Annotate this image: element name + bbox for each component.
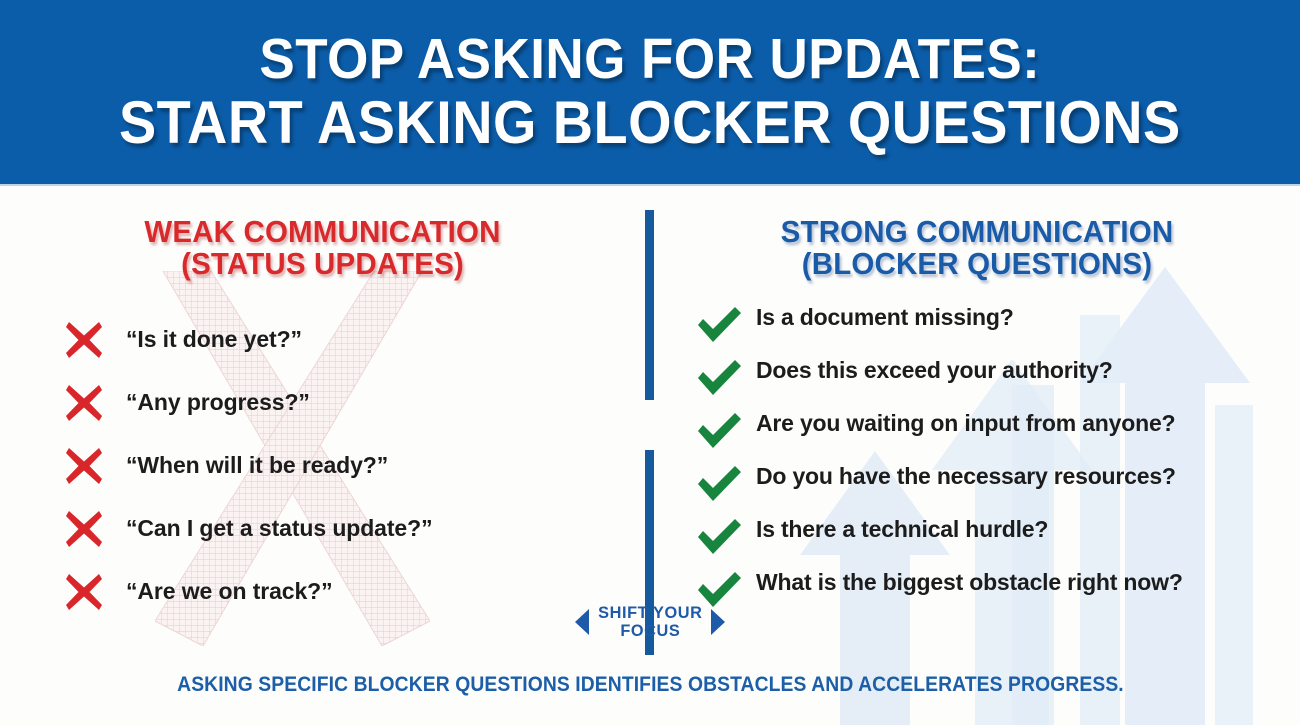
list-item-label: What is the biggest obstacle right now?	[756, 569, 1183, 596]
x-mark-icon	[62, 444, 106, 488]
list-item: What is the biggest obstacle right now?	[694, 567, 1300, 620]
check-mark-icon	[694, 306, 744, 346]
weak-question-list: “Is it done yet?” “Any progress?” “When …	[0, 308, 645, 623]
weak-communication-heading: WEAK COMMUNICATION (STATUS UPDATES)	[16, 216, 629, 280]
weak-communication-column: WEAK COMMUNICATION (STATUS UPDATES) “Is …	[0, 186, 645, 623]
weak-heading-line-2: (STATUS UPDATES)	[16, 248, 629, 280]
x-mark-icon	[62, 570, 106, 614]
triangle-left-icon	[575, 609, 589, 635]
list-item-label: Is there a technical hurdle?	[756, 516, 1048, 543]
list-item-label: “Can I get a status update?”	[126, 515, 432, 542]
strong-heading-line-1: STRONG COMMUNICATION	[670, 216, 1284, 248]
list-item-label: Is a document missing?	[756, 304, 1014, 331]
list-item: “Is it done yet?”	[62, 308, 645, 371]
list-item-label: Does this exceed your authority?	[756, 357, 1113, 384]
list-item: Does this exceed your authority?	[694, 355, 1300, 408]
list-item-label: Are you waiting on input from anyone?	[756, 410, 1175, 437]
list-item: Is a document missing?	[694, 302, 1300, 355]
shift-your-focus-callout: SHIFT YOUR FOCUS	[560, 596, 740, 648]
check-mark-icon	[694, 518, 744, 558]
shift-label-line-2: FOCUS	[620, 621, 680, 640]
list-item-label: “When will it be ready?”	[126, 452, 388, 479]
page-title-line-1: STOP ASKING FOR UPDATES:	[260, 30, 1041, 88]
shift-label-line-1: SHIFT YOUR	[598, 603, 702, 622]
list-item: Is there a technical hurdle?	[694, 514, 1300, 567]
check-mark-icon	[694, 359, 744, 399]
list-item-label: “Are we on track?”	[126, 578, 333, 605]
list-item-label: “Any progress?”	[126, 389, 310, 416]
list-item: Do you have the necessary resources?	[694, 461, 1300, 514]
list-item: “Any progress?”	[62, 371, 645, 434]
list-item: “When will it be ready?”	[62, 434, 645, 497]
check-mark-icon	[694, 412, 744, 452]
page-title-line-2: START ASKING BLOCKER QUESTIONS	[119, 92, 1181, 153]
triangle-right-icon	[711, 609, 725, 635]
body-area: WEAK COMMUNICATION (STATUS UPDATES) “Is …	[0, 186, 1300, 725]
header-banner: STOP ASKING FOR UPDATES: START ASKING BL…	[0, 0, 1300, 186]
list-item: “Are we on track?”	[62, 560, 645, 623]
x-mark-icon	[62, 381, 106, 425]
x-mark-icon	[62, 507, 106, 551]
strong-communication-heading: STRONG COMMUNICATION (BLOCKER QUESTIONS)	[670, 216, 1284, 280]
list-item: “Can I get a status update?”	[62, 497, 645, 560]
x-mark-icon	[62, 318, 106, 362]
check-mark-icon	[694, 465, 744, 505]
list-item-label: Do you have the necessary resources?	[756, 463, 1176, 490]
shift-your-focus-label: SHIFT YOUR FOCUS	[598, 604, 702, 641]
divider-bar-top	[645, 210, 654, 400]
footer-caption-text: ASKING SPECIFIC BLOCKER QUESTIONS IDENTI…	[177, 673, 1124, 697]
footer-caption: ASKING SPECIFIC BLOCKER QUESTIONS IDENTI…	[0, 673, 1300, 697]
strong-communication-column: STRONG COMMUNICATION (BLOCKER QUESTIONS)…	[654, 186, 1300, 620]
strong-heading-line-2: (BLOCKER QUESTIONS)	[670, 248, 1284, 280]
list-item-label: “Is it done yet?”	[126, 326, 302, 353]
strong-question-list: Is a document missing? Does this exceed …	[654, 302, 1300, 620]
weak-heading-line-1: WEAK COMMUNICATION	[16, 216, 629, 248]
list-item: Are you waiting on input from anyone?	[694, 408, 1300, 461]
